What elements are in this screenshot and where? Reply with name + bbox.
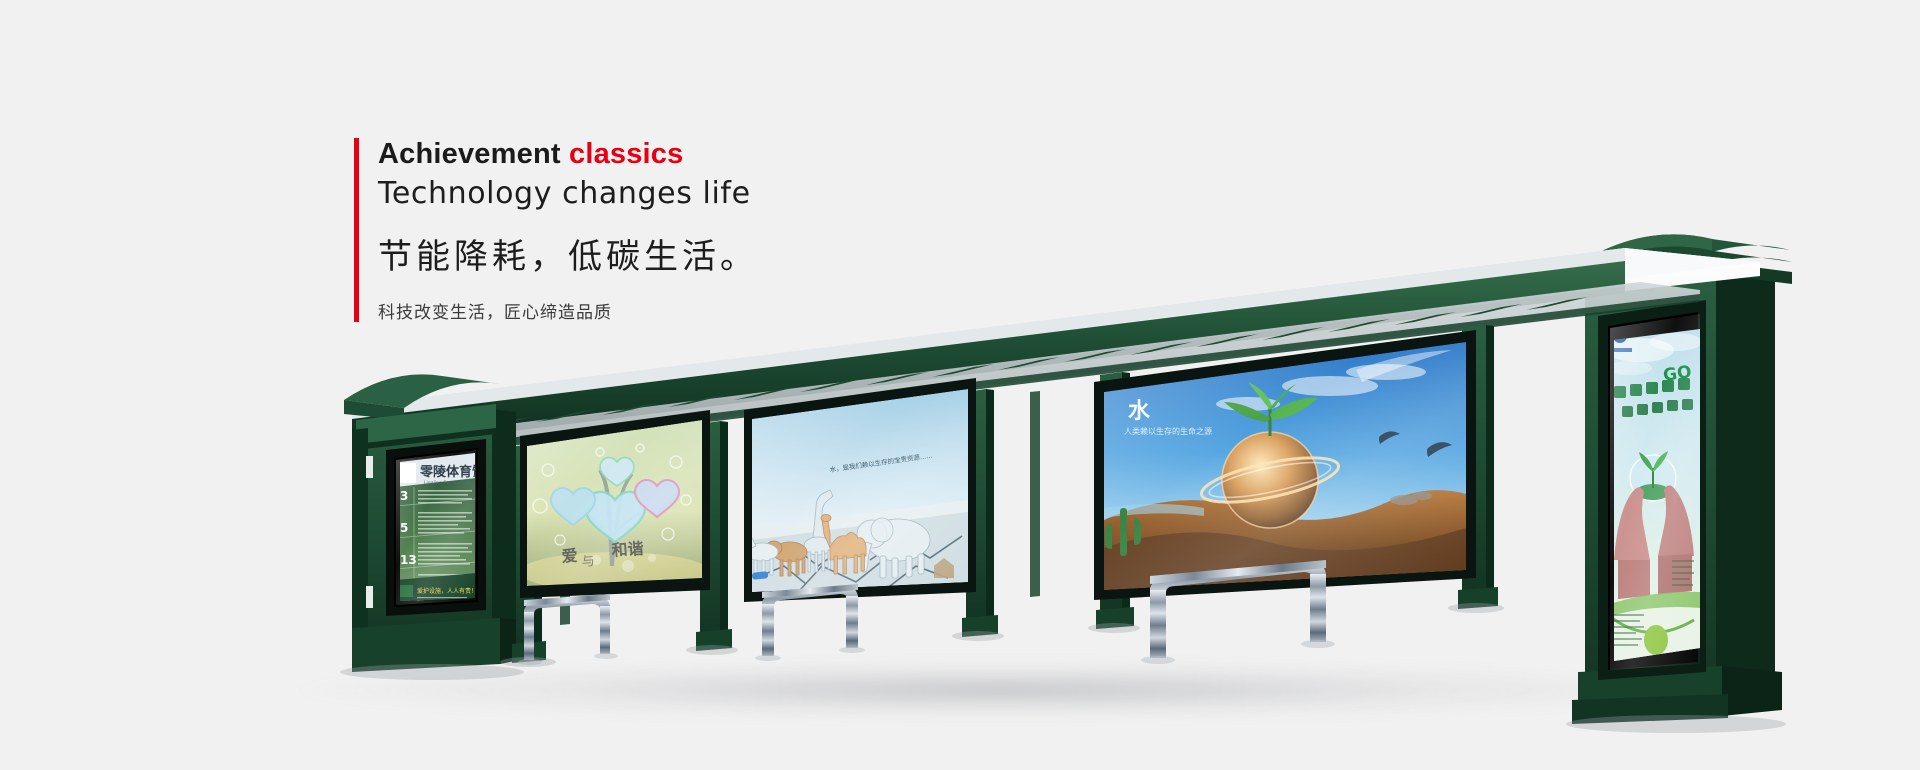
bench — [755, 584, 865, 661]
panel-water-source[interactable]: 水 人类赖以生存的生命之源 — [1094, 330, 1476, 600]
bus-shelter-illustration: GO — [0, 0, 1920, 770]
banner-stage: Achievement classics Technology changes … — [0, 0, 1920, 770]
ground-contact-shadows — [340, 603, 1786, 733]
shelter-roof — [352, 248, 1760, 460]
shelter-left-end-housing: 零陵体育馆 Lingling Gymnasium 3 5 13 23 — [344, 374, 520, 672]
panel-water-animals[interactable]: 水，是我们赖以生存的宝贵资源…… — [744, 378, 976, 602]
panel-love-harmony[interactable]: 爱 与 和谐 — [520, 410, 710, 598]
bench — [518, 594, 618, 665]
